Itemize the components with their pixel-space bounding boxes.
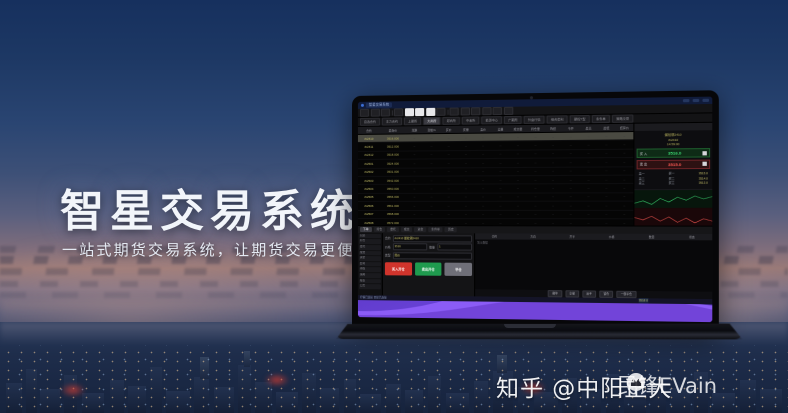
toolbar-separator bbox=[391, 110, 392, 115]
quote-buy-price: 3516.0 bbox=[668, 151, 681, 156]
grid-cell-last-price: 3518.000 bbox=[380, 153, 406, 157]
toolbar-button-11[interactable] bbox=[482, 107, 491, 115]
depth-row: 卖三3518.0买三3513.0 bbox=[639, 181, 708, 186]
grid-cell: -- bbox=[440, 170, 457, 174]
quote-sell-indicator-icon bbox=[702, 162, 706, 166]
order-side-item-1[interactable]: 持仓 bbox=[359, 239, 381, 244]
banner-root: 智星交易系统 一站式期货交易系统，让期货交易更便捷 智星 bbox=[0, 0, 788, 413]
toolbar-button-4[interactable] bbox=[404, 108, 413, 116]
grid-cell-contract: rb2505 bbox=[358, 195, 380, 199]
grid-cell-contract: rb2411 bbox=[358, 145, 380, 149]
order-tab-5[interactable]: 条件单 bbox=[428, 227, 443, 233]
grid-cell: -- bbox=[597, 177, 615, 181]
sell-open-button[interactable]: 卖出开仓 bbox=[415, 262, 442, 275]
minimize-icon[interactable] bbox=[683, 99, 690, 102]
grid-column-header[interactable]: 今开 bbox=[562, 126, 580, 130]
grid-cell: -- bbox=[406, 187, 423, 191]
order-side-item-5[interactable]: 套利 bbox=[359, 262, 381, 267]
market-tab-0[interactable]: 自选合约 bbox=[360, 118, 380, 126]
grid-cell: -- bbox=[457, 135, 474, 139]
grid-cell: -- bbox=[492, 152, 509, 156]
maximize-icon[interactable] bbox=[693, 99, 700, 102]
order-qty-label: 数量 bbox=[429, 245, 435, 249]
grid-cell: -- bbox=[597, 195, 615, 199]
grid-cell: -- bbox=[544, 169, 562, 173]
grid-cell: -- bbox=[440, 195, 457, 199]
order-table-empty-note: 暂无数据 bbox=[475, 239, 712, 246]
laptop-lid: 智星交易系统 自选合约主力合约上期所大商所郑商所中金所能源中心广期所外盘行情组合… bbox=[352, 90, 719, 334]
grid-cell: -- bbox=[474, 204, 491, 208]
grid-cell: -- bbox=[474, 169, 491, 173]
order-action-buttons[interactable]: 买入开仓 卖出开仓 平仓 bbox=[385, 262, 472, 276]
grid-cell: -- bbox=[509, 195, 526, 199]
grid-cell: -- bbox=[492, 135, 509, 139]
order-type-label: 类型 bbox=[385, 254, 391, 258]
grid-cell: -- bbox=[597, 143, 615, 147]
grid-cell: -- bbox=[509, 204, 526, 208]
grid-cell: -- bbox=[509, 152, 526, 156]
grid-cell: -- bbox=[615, 160, 633, 164]
grid-cell-contract: rb2507 bbox=[358, 212, 380, 216]
grid-cell: -- bbox=[474, 144, 491, 148]
grid-cell: -- bbox=[544, 143, 562, 147]
grid-cell: -- bbox=[423, 212, 440, 216]
order-table-column-header[interactable]: 数量 bbox=[632, 235, 672, 239]
grid-cell: -- bbox=[527, 161, 545, 165]
market-tab-8[interactable]: 外盘行情 bbox=[524, 116, 545, 124]
toolbar-button-13[interactable] bbox=[503, 107, 512, 115]
market-depth: 卖一3516.0买一3515.0卖二3517.0买二3514.0卖三3518.0… bbox=[637, 170, 711, 186]
grid-cell: -- bbox=[423, 178, 440, 182]
grid-cell: -- bbox=[492, 204, 509, 208]
order-type-row[interactable]: 类型 限价 bbox=[385, 252, 472, 260]
grid-cell: -- bbox=[509, 178, 526, 182]
grid-cell: -- bbox=[580, 134, 598, 138]
order-tab-2[interactable]: 委托 bbox=[387, 227, 399, 233]
grid-cell: -- bbox=[440, 144, 457, 148]
grid-cell: -- bbox=[509, 143, 526, 147]
grid-cell: -- bbox=[562, 160, 580, 164]
grid-cell: -- bbox=[527, 135, 545, 139]
grid-cell: -- bbox=[492, 186, 509, 190]
grid-cell: -- bbox=[423, 153, 440, 157]
grid-cell: -- bbox=[597, 134, 615, 138]
grid-cell-contract: rb2503 bbox=[358, 179, 380, 183]
grid-cell: -- bbox=[492, 212, 509, 216]
grid-cell: -- bbox=[423, 170, 440, 174]
table-row[interactable]: rb25063561.000-------------------------- bbox=[358, 202, 633, 211]
grid-cell: -- bbox=[457, 170, 474, 174]
grid-cell: -- bbox=[580, 212, 598, 216]
grid-cell: -- bbox=[423, 161, 440, 165]
grid-cell: -- bbox=[440, 212, 457, 216]
grid-cell: -- bbox=[615, 203, 633, 207]
grid-cell: -- bbox=[492, 169, 509, 173]
grid-cell: -- bbox=[423, 187, 440, 191]
grid-cell: -- bbox=[440, 136, 457, 140]
grid-cell: -- bbox=[580, 169, 598, 173]
grid-cell-contract: rb2504 bbox=[358, 187, 380, 191]
grid-cell: -- bbox=[457, 195, 474, 199]
grid-cell-contract: rb2412 bbox=[358, 153, 380, 157]
grid-column-header[interactable]: 最低 bbox=[597, 126, 615, 130]
order-side-list[interactable]: 自选持仓委托成交资金套利期权策略报表日志 bbox=[358, 233, 383, 295]
order-table-column-header[interactable]: 合约 bbox=[475, 234, 514, 238]
grid-cell: -- bbox=[597, 160, 615, 164]
grid-cell: -- bbox=[509, 161, 526, 165]
grid-column-header[interactable]: 成交量 bbox=[509, 127, 526, 131]
grid-cell: -- bbox=[527, 143, 545, 147]
grid-column-header[interactable]: 涨跌 bbox=[406, 128, 423, 132]
grid-cell: -- bbox=[509, 212, 526, 216]
grid-cell: -- bbox=[509, 135, 526, 139]
toolbar-button-3[interactable] bbox=[394, 109, 403, 117]
grid-cell: -- bbox=[440, 161, 457, 165]
grid-cell: -- bbox=[562, 204, 580, 208]
order-side-item-7[interactable]: 策略 bbox=[359, 273, 381, 278]
grid-cell: -- bbox=[544, 212, 562, 216]
grid-cell: -- bbox=[562, 169, 580, 173]
grid-cell: -- bbox=[527, 212, 545, 216]
market-tab-5[interactable]: 中金所 bbox=[462, 116, 479, 124]
grid-cell: -- bbox=[544, 195, 562, 199]
grid-cell: -- bbox=[527, 195, 545, 199]
grid-cell: -- bbox=[597, 151, 615, 155]
grid-cell: -- bbox=[615, 151, 633, 155]
grid-cell: -- bbox=[562, 152, 580, 156]
market-tab-12[interactable]: 策略交易 bbox=[612, 114, 633, 123]
grid-cell: -- bbox=[544, 178, 562, 182]
order-type-select[interactable]: 限价 bbox=[393, 252, 473, 260]
order-table[interactable]: 合约方向开平价格数量状态 暂无数据 撤单全撤反手锁仓一键平仓 bbox=[475, 233, 712, 299]
grid-column-header[interactable]: 卖量 bbox=[492, 127, 509, 131]
grid-column-header[interactable]: 持仓量 bbox=[527, 126, 545, 130]
grid-cell-contract: rb2506 bbox=[358, 204, 380, 208]
order-price-label: 价格 bbox=[385, 245, 391, 249]
grid-column-header[interactable]: 最新价 bbox=[380, 128, 406, 132]
market-tab-2[interactable]: 上期所 bbox=[404, 117, 421, 125]
grid-cell: -- bbox=[544, 160, 562, 164]
grid-cell-last-price: 3556.000 bbox=[380, 195, 406, 199]
toolbar-button-5[interactable] bbox=[415, 108, 424, 116]
grid-cell: -- bbox=[492, 178, 509, 182]
grid-cell: -- bbox=[457, 204, 474, 208]
grid-cell-contract: rb2410 bbox=[358, 136, 380, 140]
grid-cell: -- bbox=[509, 169, 526, 173]
quote-grid[interactable]: 合约最新价涨跌涨幅%买价买量卖价卖量成交量持仓量昨结今开最高最低结算价 rb24… bbox=[358, 124, 633, 226]
order-side-item-4[interactable]: 资金 bbox=[359, 256, 381, 261]
trading-application: 智星交易系统 自选合约主力合约上期所大商所郑商所中金所能源中心广期所外盘行情组合… bbox=[358, 97, 712, 305]
brand-watermark: 民锋EVain bbox=[617, 370, 717, 400]
order-side-item-0[interactable]: 自选 bbox=[359, 234, 381, 239]
grid-cell: -- bbox=[474, 161, 491, 165]
order-tab-6[interactable]: 历史 bbox=[445, 227, 457, 233]
grid-column-header[interactable]: 昨结 bbox=[544, 126, 562, 130]
grid-cell-last-price: 3550.000 bbox=[380, 187, 406, 191]
grid-cell: -- bbox=[406, 204, 423, 208]
grid-cell: -- bbox=[423, 136, 440, 140]
order-price-row[interactable]: 价格 3516 数量 1 bbox=[385, 244, 472, 251]
grid-cell: -- bbox=[615, 177, 633, 181]
grid-cell: -- bbox=[474, 135, 491, 139]
toolbar-button-8[interactable] bbox=[450, 108, 459, 116]
grid-cell: -- bbox=[597, 186, 615, 190]
quote-sell-label: 卖 出 bbox=[640, 162, 647, 166]
grid-cell: -- bbox=[562, 186, 580, 190]
market-tab-6[interactable]: 能源中心 bbox=[481, 116, 502, 124]
grid-cell: -- bbox=[406, 178, 423, 182]
laptop-screen: 智星交易系统 自选合约主力合约上期所大商所郑商所中金所能源中心广期所外盘行情组合… bbox=[358, 97, 712, 323]
grid-cell: -- bbox=[406, 161, 423, 165]
market-tab-9[interactable]: 组合套利 bbox=[547, 115, 568, 123]
grid-cell-contract: rb2502 bbox=[358, 170, 380, 174]
grid-cell: -- bbox=[457, 161, 474, 165]
order-price-input[interactable]: 3516 bbox=[393, 244, 428, 251]
close-position-button[interactable]: 平仓 bbox=[445, 263, 472, 276]
grid-cell: -- bbox=[580, 195, 598, 199]
grid-cell: -- bbox=[527, 178, 545, 182]
grid-cell: -- bbox=[527, 152, 545, 156]
grid-cell: -- bbox=[457, 152, 474, 156]
buy-open-button[interactable]: 买入开仓 bbox=[385, 262, 412, 275]
grid-cell: -- bbox=[474, 195, 491, 199]
grid-cell: -- bbox=[440, 204, 457, 208]
toolbar-button-2[interactable] bbox=[381, 109, 390, 117]
grid-cell-last-price: 3568.000 bbox=[380, 212, 406, 216]
order-tab-0[interactable]: 下单 bbox=[360, 227, 372, 233]
table-row[interactable]: rb25053556.000-------------------------- bbox=[358, 193, 633, 202]
grid-cell: -- bbox=[562, 212, 580, 216]
grid-cell: -- bbox=[457, 178, 474, 182]
grid-cell: -- bbox=[544, 152, 562, 156]
grid-cell-contract: rb2501 bbox=[358, 162, 380, 166]
order-side-item-3[interactable]: 成交 bbox=[359, 251, 381, 256]
grid-column-header[interactable]: 结算价 bbox=[615, 125, 633, 129]
grid-cell: -- bbox=[423, 195, 440, 199]
grid-cell: -- bbox=[457, 187, 474, 191]
grid-cell: -- bbox=[423, 204, 440, 208]
table-row[interactable]: rb25073568.000-------------------------- bbox=[358, 210, 633, 219]
grid-cell: -- bbox=[527, 169, 545, 173]
grid-column-header[interactable]: 买量 bbox=[457, 127, 474, 131]
quote-sell-row[interactable]: 卖 出 3515.0 bbox=[637, 159, 711, 169]
grid-cell: -- bbox=[492, 144, 509, 148]
grid-cell-last-price: 3512.000 bbox=[380, 145, 406, 149]
quote-time: 14:59:00 bbox=[637, 142, 711, 147]
grid-cell: -- bbox=[406, 136, 423, 140]
toolbar-button-7[interactable] bbox=[436, 108, 445, 116]
grid-column-header[interactable]: 最高 bbox=[580, 126, 598, 130]
grid-cell: -- bbox=[406, 212, 423, 216]
grid-cell: -- bbox=[615, 186, 633, 190]
grid-cell: -- bbox=[492, 195, 509, 199]
order-table-body: 暂无数据 bbox=[475, 239, 712, 291]
grid-cell: -- bbox=[562, 195, 580, 199]
quote-buy-indicator-icon bbox=[702, 151, 706, 155]
order-form[interactable]: 合约 rb2410 螺纹钢2410 价格 3516 数量 1 bbox=[383, 233, 475, 296]
order-side-item-6[interactable]: 期权 bbox=[359, 267, 381, 272]
grid-cell: -- bbox=[615, 143, 633, 147]
toolbar-button-0[interactable] bbox=[360, 109, 369, 117]
statusbar-text: 行情已连接 交易已连接 bbox=[360, 295, 387, 299]
order-tab-1[interactable]: 持仓 bbox=[374, 227, 386, 233]
order-qty-input[interactable]: 1 bbox=[437, 244, 472, 251]
grid-cell: -- bbox=[580, 160, 598, 164]
grid-cell: -- bbox=[474, 152, 491, 156]
grid-cell: -- bbox=[544, 186, 562, 190]
order-panel: 下单持仓委托成交资金条件单历史 自选持仓委托成交资金套利期权策略报表日志 合约 … bbox=[358, 225, 712, 304]
grid-cell-last-price: 3524.000 bbox=[380, 161, 406, 165]
grid-cell-last-price: 3561.000 bbox=[380, 204, 406, 208]
quote-detail-body: 螺纹钢2410 rb2410 14:59:00 买 入 3516.0 卖 出 bbox=[634, 130, 712, 188]
app-logo-icon bbox=[361, 104, 364, 107]
grid-cell: -- bbox=[580, 178, 598, 182]
order-table-column-header[interactable]: 开平 bbox=[553, 234, 592, 238]
order-tab-3[interactable]: 成交 bbox=[401, 227, 413, 233]
grid-cell: -- bbox=[562, 178, 580, 182]
toolbar-button-12[interactable] bbox=[493, 107, 502, 115]
grid-cell: -- bbox=[527, 186, 545, 190]
grid-cell: -- bbox=[580, 186, 598, 190]
toolbar-button-6[interactable] bbox=[426, 108, 435, 116]
grid-column-header[interactable]: 买价 bbox=[440, 127, 457, 131]
laptop-hinge-notch bbox=[504, 324, 556, 328]
grid-cell: -- bbox=[615, 195, 633, 199]
grid-cell: -- bbox=[527, 204, 545, 208]
grid-column-header[interactable]: 涨幅% bbox=[423, 127, 440, 131]
market-tab-7[interactable]: 广期所 bbox=[504, 116, 522, 124]
quote-sell-price: 3515.0 bbox=[668, 162, 681, 167]
grid-cell: -- bbox=[562, 143, 580, 147]
quote-grid-rows[interactable]: rb24103516.000--------------------------… bbox=[358, 132, 633, 225]
grid-cell: -- bbox=[615, 212, 633, 216]
grid-cell: -- bbox=[580, 143, 598, 147]
grid-column-header[interactable]: 合约 bbox=[358, 128, 380, 132]
grid-cell: -- bbox=[580, 204, 598, 208]
market-tab-1[interactable]: 主力合约 bbox=[382, 117, 402, 125]
market-tab-10[interactable]: 期权T型 bbox=[570, 115, 590, 123]
grid-cell: -- bbox=[457, 144, 474, 148]
grid-cell: -- bbox=[474, 187, 491, 191]
depth-cell: 卖三 bbox=[639, 181, 645, 186]
grid-cell: -- bbox=[440, 178, 457, 182]
grid-cell: -- bbox=[544, 204, 562, 208]
order-side-item-8[interactable]: 报表 bbox=[359, 279, 381, 284]
order-table-column-header[interactable]: 方向 bbox=[514, 234, 553, 238]
window-controls[interactable] bbox=[683, 99, 709, 103]
laptop-mockup: 智星交易系统 自选合约主力合约上期所大商所郑商所中金所能源中心广期所外盘行情组合… bbox=[336, 96, 724, 350]
toolbar-separator bbox=[447, 109, 448, 114]
grid-cell: -- bbox=[406, 195, 423, 199]
order-table-column-header[interactable]: 状态 bbox=[672, 235, 713, 239]
mini-chart bbox=[634, 188, 712, 225]
grid-cell: -- bbox=[492, 161, 509, 165]
market-tab-4[interactable]: 郑商所 bbox=[442, 117, 459, 125]
depth-cell: 3518.0 bbox=[639, 299, 648, 304]
grid-cell: -- bbox=[474, 178, 491, 182]
grid-column-header[interactable]: 卖价 bbox=[474, 127, 491, 131]
grid-cell: -- bbox=[544, 135, 562, 139]
app-body: 合约最新价涨跌涨幅%买价买量卖价卖量成交量持仓量昨结今开最高最低结算价 rb24… bbox=[358, 123, 712, 226]
toolbar-button-1[interactable] bbox=[370, 109, 379, 117]
depth-cell: 3513.0 bbox=[699, 181, 708, 186]
grid-cell: -- bbox=[562, 134, 580, 138]
order-side-item-9[interactable]: 日志 bbox=[359, 284, 381, 289]
quote-detail-panel: 螺纹钢2410 rb2410 14:59:00 买 入 3516.0 卖 出 bbox=[633, 123, 712, 226]
grid-cell: -- bbox=[597, 204, 615, 208]
depth-cell: 买三 bbox=[669, 181, 675, 186]
grid-cell: -- bbox=[580, 152, 598, 156]
toolbar-button-10[interactable] bbox=[471, 107, 480, 115]
market-tab-11[interactable]: 条件单 bbox=[592, 115, 610, 123]
quote-buy-label: 买 入 bbox=[640, 151, 647, 155]
grid-cell: -- bbox=[406, 144, 423, 148]
grid-cell: -- bbox=[440, 187, 457, 191]
quote-buy-row[interactable]: 买 入 3516.0 bbox=[637, 148, 711, 158]
mini-chart-icon bbox=[634, 189, 712, 225]
page-subtitle: 一站式期货交易系统，让期货交易更便捷 bbox=[62, 239, 372, 260]
grid-cell: -- bbox=[457, 212, 474, 216]
grid-cell-last-price: 3531.000 bbox=[380, 170, 406, 174]
grid-cell: -- bbox=[406, 153, 423, 157]
page-title: 智星交易系统 bbox=[60, 175, 360, 239]
toolbar-button-9[interactable] bbox=[460, 108, 469, 116]
grid-cell: -- bbox=[615, 134, 633, 138]
grid-cell: -- bbox=[597, 169, 615, 173]
grid-cell-last-price: 3542.000 bbox=[380, 178, 406, 182]
grid-cell: -- bbox=[440, 153, 457, 157]
market-tab-3[interactable]: 大商所 bbox=[423, 117, 440, 125]
order-side-item-2[interactable]: 委托 bbox=[359, 245, 381, 250]
app-name: 智星交易系统 bbox=[366, 102, 392, 107]
grid-cell: -- bbox=[615, 169, 633, 173]
grid-cell: -- bbox=[509, 186, 526, 190]
order-panel-main: 自选持仓委托成交资金套利期权策略报表日志 合约 rb2410 螺纹钢2410 价… bbox=[358, 233, 712, 299]
order-contract-row[interactable]: 合约 rb2410 螺纹钢2410 bbox=[385, 235, 472, 242]
grid-cell: -- bbox=[423, 144, 440, 148]
grid-cell: -- bbox=[406, 170, 423, 174]
order-tab-4[interactable]: 资金 bbox=[415, 227, 427, 233]
grid-cell-last-price: 3516.000 bbox=[380, 136, 406, 140]
order-table-column-header[interactable]: 价格 bbox=[592, 235, 632, 239]
close-icon[interactable] bbox=[702, 99, 709, 102]
order-contract-input[interactable]: rb2410 螺纹钢2410 bbox=[393, 235, 473, 242]
grid-cell: -- bbox=[474, 212, 491, 216]
grid-cell: -- bbox=[597, 212, 615, 216]
order-contract-label: 合约 bbox=[385, 236, 391, 240]
